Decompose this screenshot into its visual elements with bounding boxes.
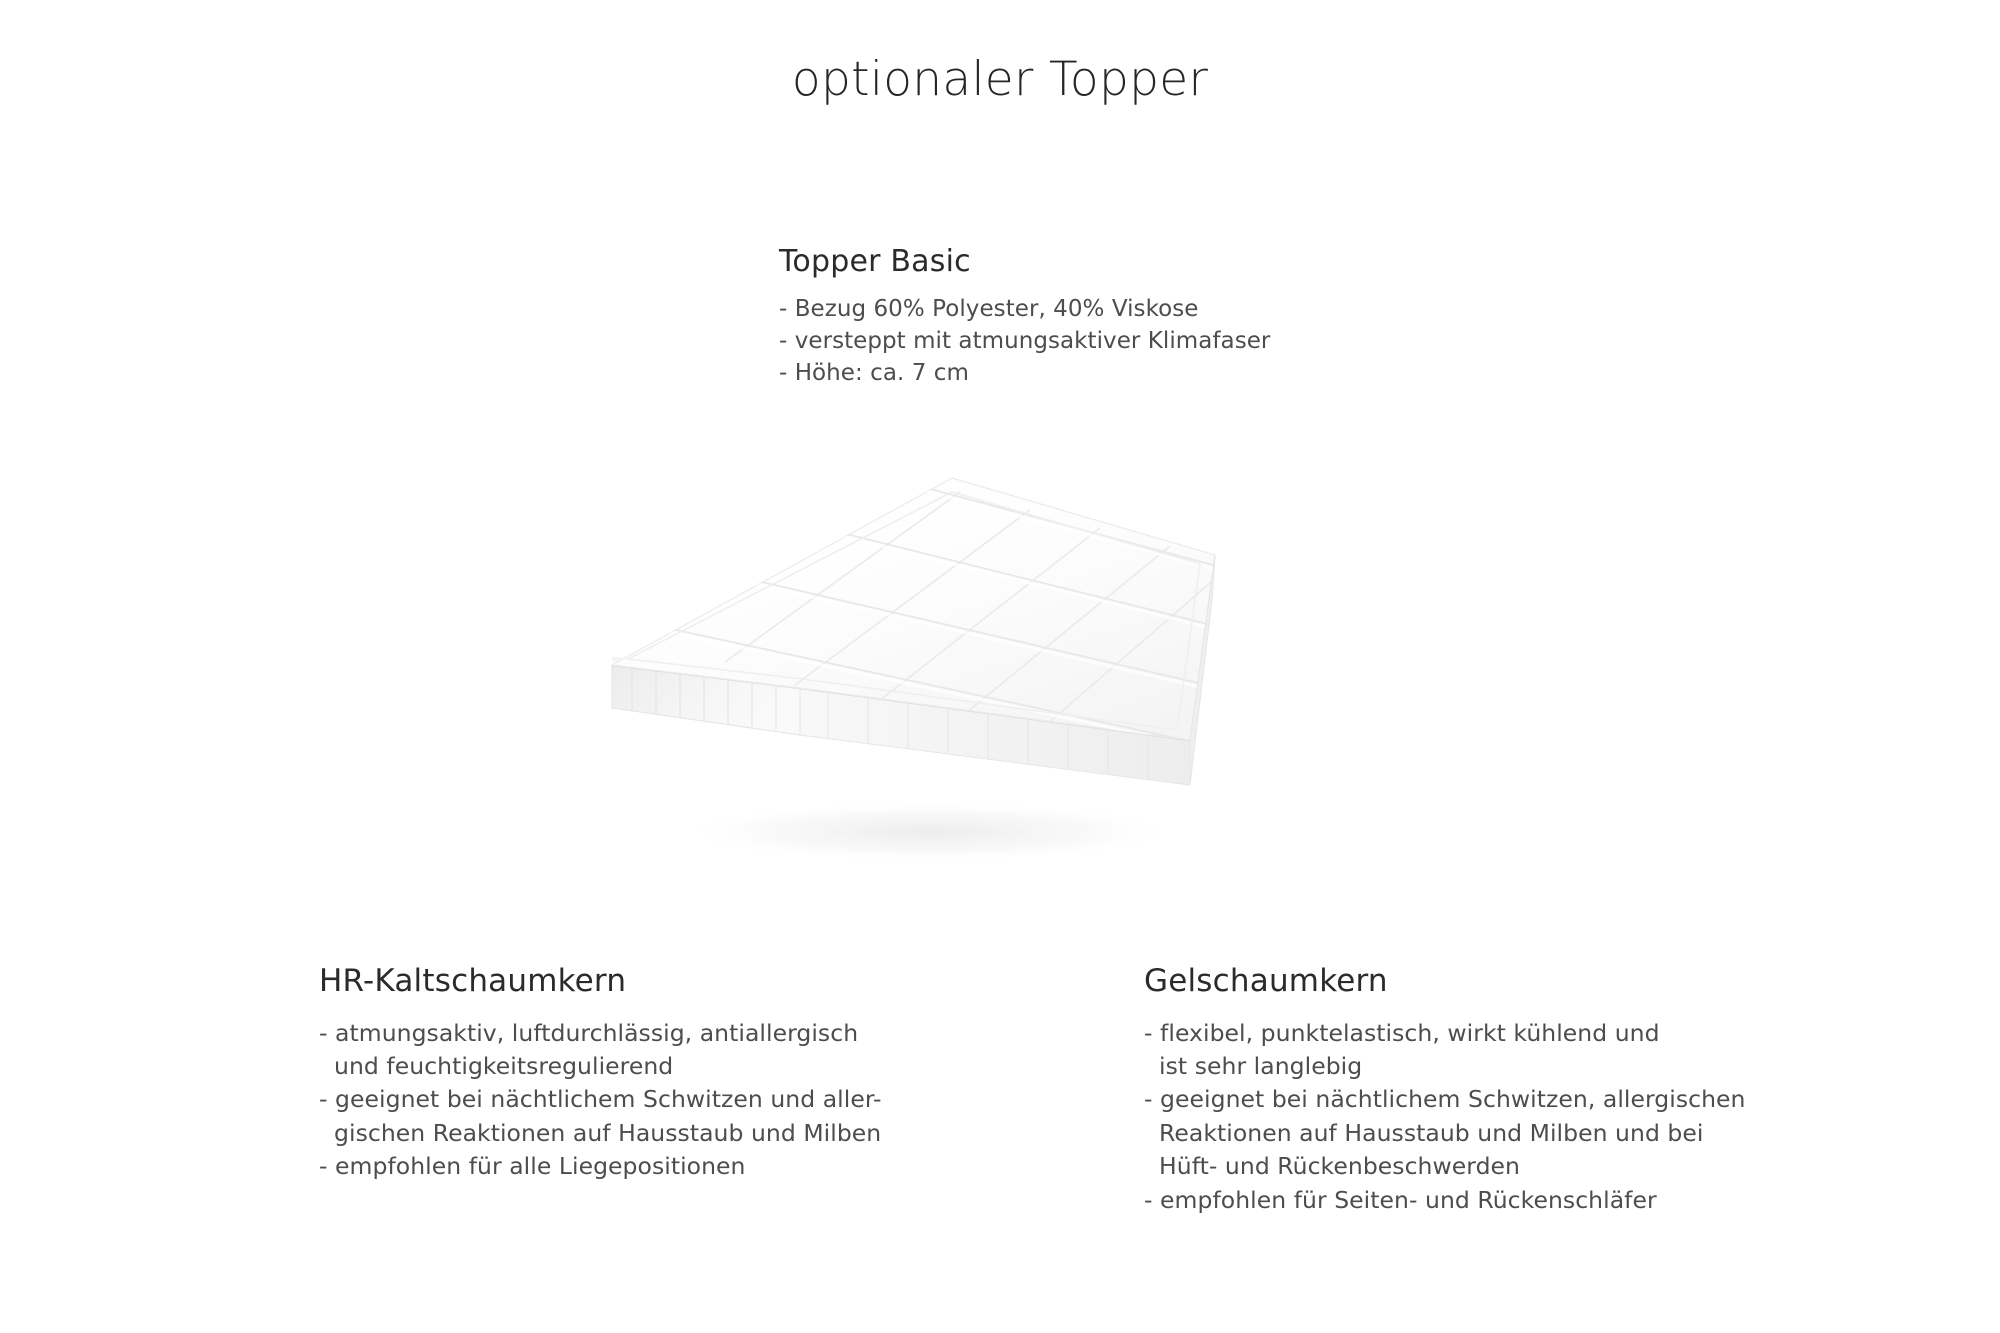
gelschaumkern-heading: Gelschaumkern: [1144, 962, 1746, 1001]
gelschaumkern-list: - flexibel, punktelastisch, wirkt kühlen…: [1144, 1017, 1746, 1217]
list-item: - Bezug 60% Polyester, 40% Viskose: [779, 293, 1270, 325]
list-item: - versteppt mit atmungsaktiver Klimafase…: [779, 325, 1270, 357]
list-item: - empfohlen für alle Liegepositionen: [319, 1150, 882, 1183]
spec-block-topper-basic: Topper Basic - Bezug 60% Polyester, 40% …: [779, 243, 1270, 389]
mattress-topper-image: [560, 440, 1280, 890]
list-item: ist sehr langlebig: [1144, 1050, 1746, 1083]
list-item: - empfohlen für Seiten- und Rückenschläf…: [1144, 1184, 1746, 1217]
spec-block-gelschaumkern: Gelschaumkern - flexibel, punktelastisch…: [1144, 962, 1746, 1217]
list-item: - Höhe: ca. 7 cm: [779, 357, 1270, 389]
list-item: Reaktionen auf Hausstaub und Milben und …: [1144, 1117, 1746, 1150]
list-item: - atmungsaktiv, luftdurchlässig, antiall…: [319, 1017, 882, 1050]
list-item: - geeignet bei nächtlichem Schwitzen und…: [319, 1083, 882, 1116]
topper-basic-list: - Bezug 60% Polyester, 40% Viskose - ver…: [779, 293, 1270, 390]
list-item: Hüft- und Rückenbeschwerden: [1144, 1150, 1746, 1183]
spec-block-hr-kaltschaumkern: HR-Kaltschaumkern - atmungsaktiv, luftdu…: [319, 962, 882, 1184]
list-item: - geeignet bei nächtlichem Schwitzen, al…: [1144, 1083, 1746, 1116]
topper-basic-heading: Topper Basic: [779, 243, 1270, 281]
hr-kaltschaumkern-heading: HR-Kaltschaumkern: [319, 962, 882, 1001]
product-info-page: optionaler Topper Topper Basic - Bezug 6…: [0, 0, 2000, 1333]
hr-kaltschaumkern-list: - atmungsaktiv, luftdurchlässig, antiall…: [319, 1017, 882, 1184]
page-title: optionaler Topper: [0, 52, 2000, 108]
list-item: und feuchtigkeitsregulierend: [319, 1050, 882, 1083]
mattress-topper-illustration: [560, 440, 1280, 890]
list-item: - flexibel, punktelastisch, wirkt kühlen…: [1144, 1017, 1746, 1050]
drop-shadow: [680, 802, 1180, 862]
list-item: gischen Reaktionen auf Hausstaub und Mil…: [319, 1117, 882, 1150]
